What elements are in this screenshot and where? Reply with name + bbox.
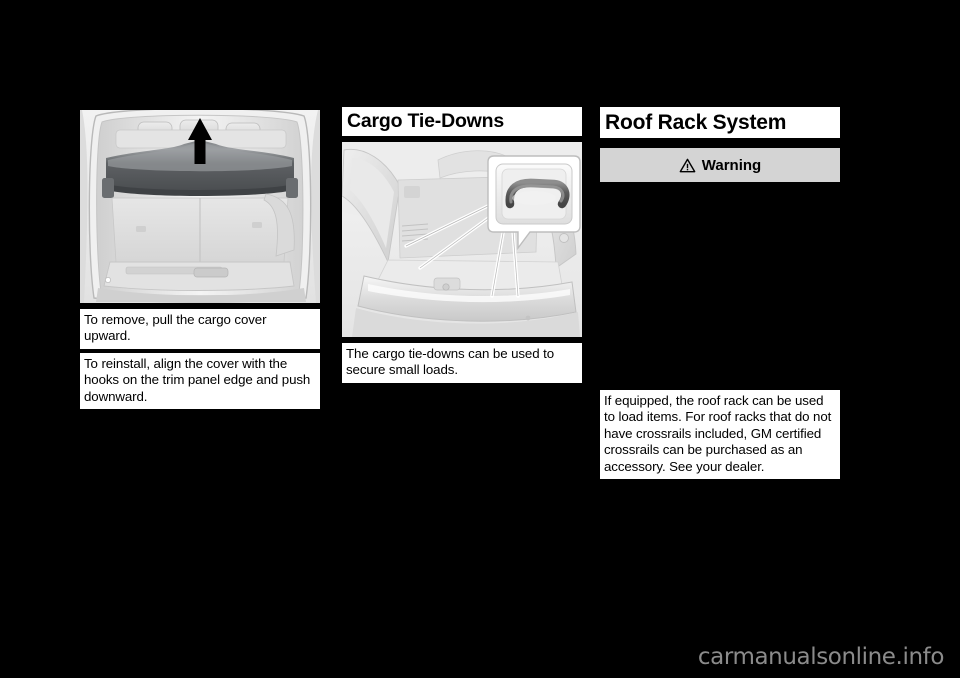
warning-banner: Warning [600,148,840,182]
cargo-tie-downs-text: The cargo tie-downs can be used to secur… [342,343,582,383]
warning-body-blank [600,182,840,390]
cargo-tie-downs-illustration [342,142,582,337]
column-three: Roof Rack System Warning If equipped, th… [600,0,840,479]
roof-rack-description-text: If equipped, the roof rack can be used t… [600,390,840,479]
roof-rack-system-heading: Roof Rack System [600,107,840,140]
column-one: To remove, pull the cargo cover upward. … [80,0,320,409]
manual-page: To remove, pull the cargo cover upward. … [0,0,960,678]
warning-label: Warning [702,157,761,174]
cargo-tie-downs-heading: Cargo Tie-Downs [342,107,582,138]
cargo-cover-reinstall-text: To reinstall, align the cover with the h… [80,353,320,409]
cargo-cover-remove-text: To remove, pull the cargo cover upward. [80,309,320,349]
site-watermark: carmanualsonline.info [698,644,944,670]
column-two: Cargo Tie-Downs [342,0,582,383]
warning-triangle-icon [679,158,696,173]
cargo-cover-illustration [80,110,320,303]
